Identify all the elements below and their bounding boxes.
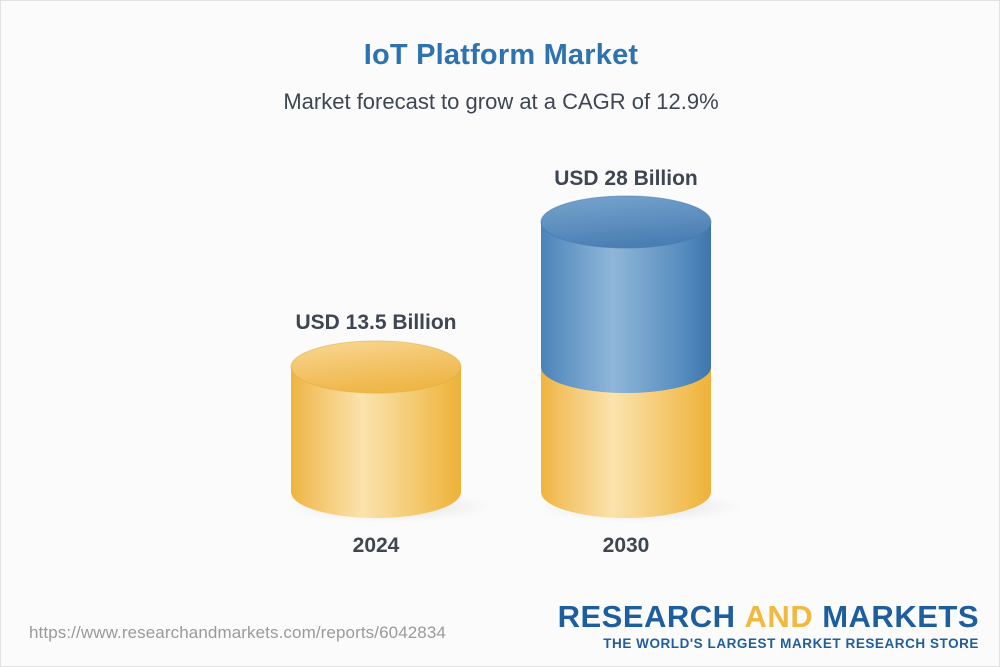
bar-2030 — [541, 196, 711, 518]
bar-value-label-2030: USD 28 Billion — [526, 167, 726, 191]
brand-word-research: RESEARCH — [558, 599, 736, 634]
brand-word-markets: MARKETS — [822, 599, 979, 634]
category-label-2024: 2024 — [276, 534, 476, 558]
bar-value-label-2024: USD 13.5 Billion — [276, 311, 476, 335]
bar-chart-plot — [1, 1, 1000, 667]
bar-2024 — [291, 341, 461, 518]
brand-wordmark: RESEARCHANDMARKETS — [558, 601, 979, 632]
brand-word-and: AND — [745, 599, 814, 634]
category-label-2030: 2030 — [526, 534, 726, 558]
brand-logo[interactable]: RESEARCHANDMARKETS THE WORLD'S LARGEST M… — [558, 601, 979, 651]
brand-tagline: THE WORLD'S LARGEST MARKET RESEARCH STOR… — [558, 636, 979, 651]
source-url[interactable]: https://www.researchandmarkets.com/repor… — [29, 623, 446, 643]
chart-canvas: IoT Platform Market Market forecast to g… — [0, 0, 1000, 667]
